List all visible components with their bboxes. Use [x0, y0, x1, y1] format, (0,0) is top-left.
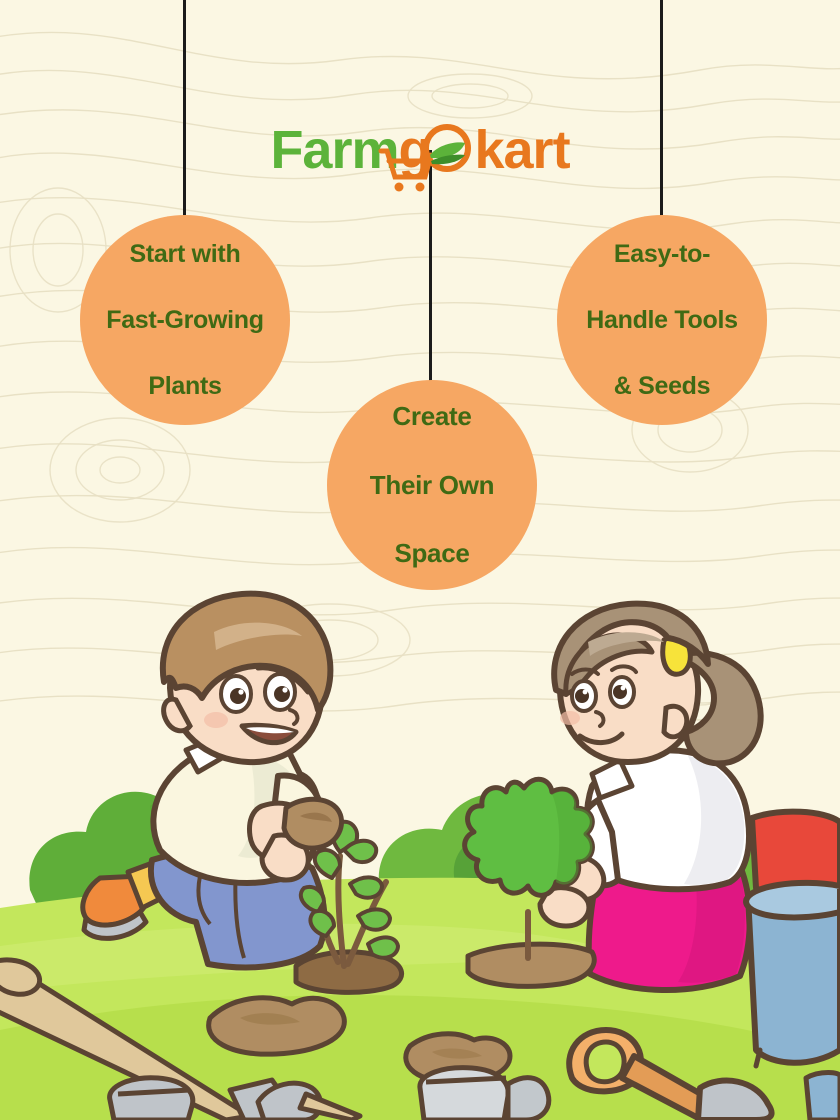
logo-text-kart: kart: [474, 123, 569, 177]
girl-eye-glint-left: [583, 690, 588, 695]
feature-bubble-label: Create Their Own Space: [350, 399, 514, 571]
cart-wheel-left-icon: [395, 183, 404, 192]
girl-cheek: [560, 711, 580, 725]
feature-bubble-start-with-fast-growing-plants[interactable]: Start with Fast-Growing Plants: [80, 215, 290, 425]
shrub-soil-patch: [468, 944, 594, 986]
logo-mark-cart-and-field-icon: [373, 117, 483, 193]
watering-can-center: [420, 1068, 549, 1120]
boy-eye-glint-right: [282, 687, 287, 692]
cart-wheel-right-icon: [416, 183, 425, 192]
boy-pupil-right: [274, 686, 290, 702]
bucket-small-right: [806, 1073, 840, 1120]
feature-bubble-label: Start with Fast-Growing Plants: [86, 238, 284, 403]
feature-bubble-create-their-own-space[interactable]: Create Their Own Space: [327, 380, 537, 590]
soil-clump-in-hand: [284, 799, 342, 848]
feature-bubble-easy-to-handle-tools-and-seeds[interactable]: Easy-to- Handle Tools & Seeds: [557, 215, 767, 425]
bubble-line-3: & Seeds: [576, 370, 748, 403]
bubble-line-2: Handle Tools: [576, 304, 748, 337]
bubble-line-3: Space: [360, 536, 504, 570]
boy-cheek: [204, 712, 228, 728]
kids-gardening-illustration: [0, 560, 840, 1120]
shopping-cart-icon: [381, 151, 431, 177]
bubble-line-1: Easy-to-: [576, 238, 748, 271]
brand-logo[interactable]: Farmgkart: [0, 112, 840, 188]
bubble-line-3: Plants: [96, 370, 274, 403]
blue-bucket: [746, 812, 840, 1066]
bubble-line-1: Create: [360, 399, 504, 433]
bucket-rim: [746, 883, 840, 918]
boy-eye-glint-left: [238, 689, 243, 694]
bubble-line-1: Start with: [96, 238, 274, 271]
girl-eye-glint-right: [621, 686, 626, 691]
boy-pupil-left: [230, 688, 246, 704]
boy-planting-seedling: [83, 594, 331, 968]
bubble-line-2: Their Own: [360, 468, 504, 502]
feature-bubble-label: Easy-to- Handle Tools & Seeds: [566, 238, 758, 403]
bubble-line-2: Fast-Growing: [96, 304, 274, 337]
watering-can-spout: [508, 1078, 549, 1120]
poster-canvas: Farmgkart Start with Fast-Gr: [0, 0, 840, 1120]
soil-mound-large: [209, 998, 345, 1054]
spade-grip-hole: [586, 1042, 624, 1082]
watering-can-left: [110, 1078, 193, 1120]
